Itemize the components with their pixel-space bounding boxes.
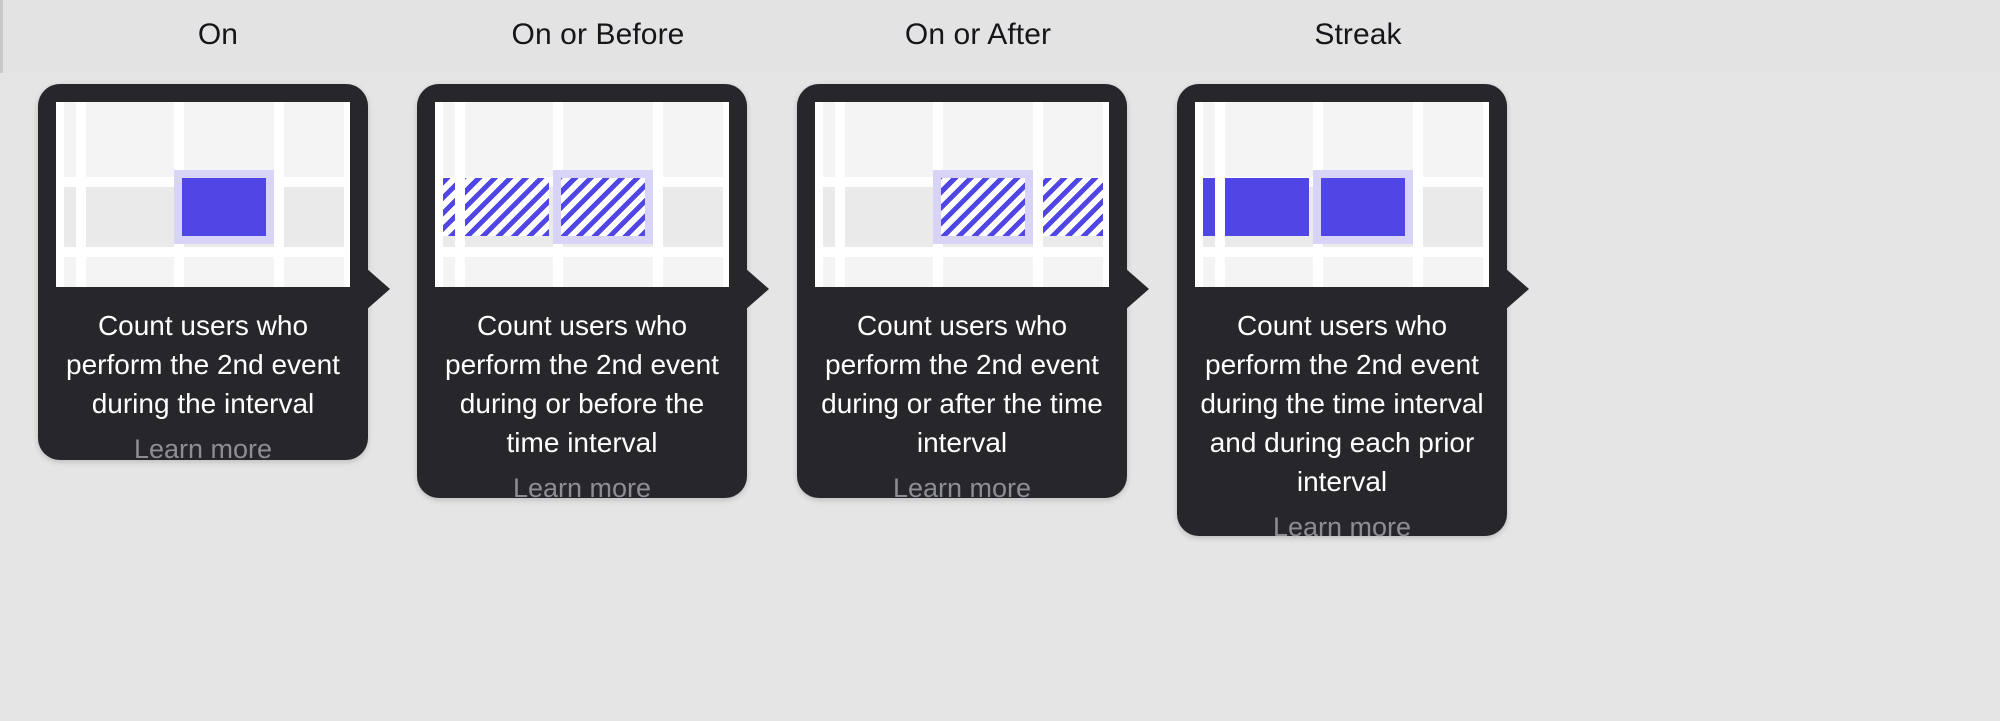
event-block-solid-selected [1321,178,1405,236]
interval-grid-on [56,102,350,287]
card-streak[interactable]: Count users who perform the 2nd event du… [1177,84,1507,536]
event-block-hatched [465,178,549,236]
card-description-on-or-before: Count users who perform the 2nd event du… [435,307,729,463]
card-on-or-after[interactable]: Count users who perform the 2nd event du… [797,84,1127,498]
card-description-on-or-after: Count users who perform the 2nd event du… [815,307,1109,463]
card-on-or-before[interactable]: Count users who perform the 2nd event du… [417,84,747,498]
event-block-hatched-selected [561,178,645,236]
event-block-solid [1225,178,1309,236]
event-block-solid [182,178,266,236]
learn-more-link-on-or-after[interactable]: Learn more [815,469,1109,507]
learn-more-link-on[interactable]: Learn more [56,430,350,468]
event-block-hatched-selected [941,178,1025,236]
learn-more-link-streak[interactable]: Learn more [1195,508,1489,546]
card-pointer-icon [1125,268,1149,310]
interval-grid-streak [1195,102,1489,287]
learn-more-link-on-or-before[interactable]: Learn more [435,469,729,507]
card-description-on: Count users who perform the 2nd event du… [56,307,350,424]
card-pointer-icon [1505,268,1529,310]
tooltip-cards-row: Count users who perform the 2nd event du… [0,0,2000,721]
card-pointer-icon [745,268,769,310]
interval-grid-on-or-after [815,102,1109,287]
card-description-streak: Count users who perform the 2nd event du… [1195,307,1489,502]
card-pointer-icon [366,268,390,310]
card-on[interactable]: Count users who perform the 2nd event du… [38,84,368,460]
event-block-hatched [1041,178,1103,236]
interval-grid-on-or-before [435,102,729,287]
